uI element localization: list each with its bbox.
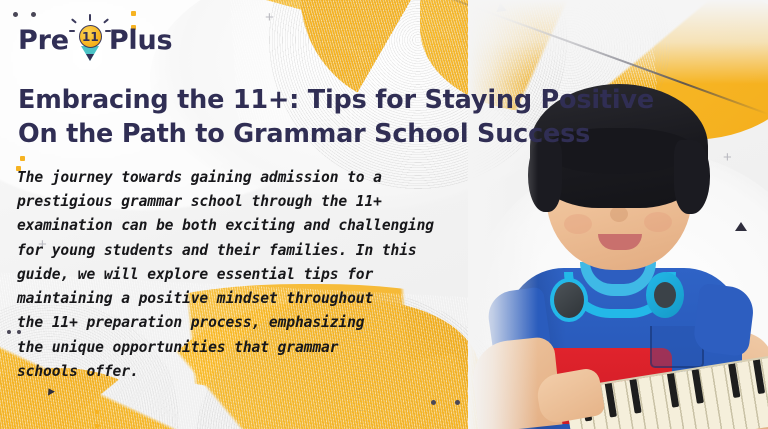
headline-line-1: Embracing the 11+: Tips for Staying Posi…	[18, 84, 638, 118]
triangle-mark-icon	[45, 386, 55, 395]
bulb-ray	[103, 18, 109, 23]
bulb-ray	[89, 14, 91, 21]
body-line-2: prestigious grammar school through the 1…	[17, 190, 577, 214]
decor-dot-amber	[95, 410, 99, 414]
lightbulb-pencil-icon: 11	[68, 14, 112, 66]
pencil-core	[86, 54, 94, 61]
bulb-glass: 11	[79, 25, 102, 48]
body-line-7: the 11+ preparation process, emphasizing	[17, 311, 577, 335]
yellow-ribbon-shape	[238, 0, 388, 88]
headphones-right-cup-inner	[654, 282, 676, 308]
decor-dot	[455, 400, 460, 405]
right-sleeve	[692, 283, 756, 357]
hair-side-right	[674, 140, 710, 214]
intro-paragraph: The journey towards gaining admission to…	[17, 166, 577, 384]
bulb-ray	[71, 18, 77, 23]
decor-dot-amber	[95, 424, 99, 428]
body-line-9: schools offer.	[17, 360, 577, 384]
logo-text-plus: Plus	[109, 25, 173, 56]
logo-text-pre: Pre	[18, 25, 69, 56]
plus-mark-icon: +	[265, 10, 274, 25]
body-line-6: maintaining a positive mindset throughou…	[17, 287, 577, 311]
decor-dot	[431, 400, 436, 405]
decor-dot	[7, 330, 11, 334]
bulb-ray	[105, 30, 111, 32]
page-title: Embracing the 11+: Tips for Staying Posi…	[18, 84, 638, 151]
body-line-1: The journey towards gaining admission to…	[17, 166, 577, 190]
nose	[610, 206, 628, 222]
blog-banner: + + + Pre 11 Plus Embracing the 11+: Tip…	[0, 0, 768, 429]
decor-dot-amber	[20, 156, 25, 161]
body-line-4: for young students and their families. I…	[17, 239, 577, 263]
bulb-number-label: 11	[82, 31, 99, 43]
photo-top-fade	[468, 0, 768, 84]
body-line-5: guide, we will explore essential tips fo…	[17, 263, 577, 287]
brand-logo[interactable]: Pre 11 Plus	[18, 14, 172, 66]
right-cheek	[644, 212, 672, 232]
headline-line-2: On the Path to Grammar School Success	[18, 118, 638, 152]
body-line-8: the unique opportunities that grammar	[17, 336, 577, 360]
bulb-ray	[69, 30, 75, 32]
body-line-3: examination can be both exciting and cha…	[17, 214, 577, 238]
